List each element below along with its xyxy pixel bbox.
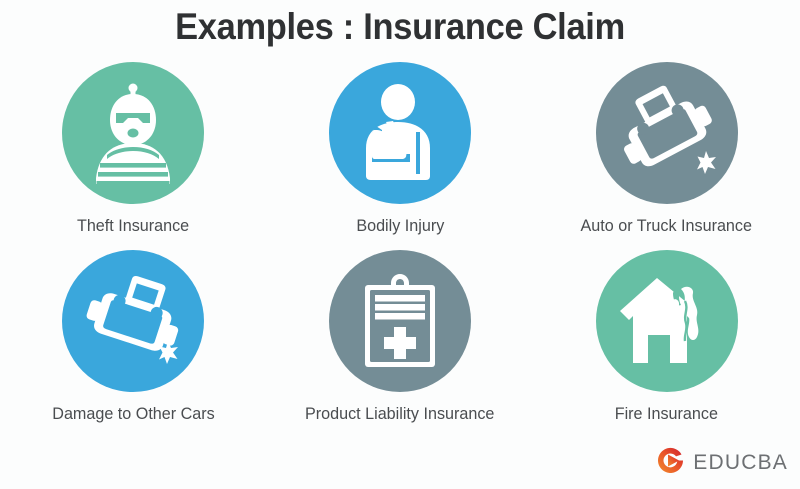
icon-circle-fire-insurance <box>596 250 738 392</box>
crashed-car-icon <box>615 85 719 181</box>
example-card-product-liability[interactable]: Product Liability Insurance <box>275 250 525 424</box>
crashed-car-icon <box>81 273 185 369</box>
example-card-damage-other-cars[interactable]: Damage to Other Cars <box>8 250 258 424</box>
icon-circle-auto-truck <box>596 62 738 204</box>
example-label: Bodily Injury <box>356 216 444 236</box>
icon-circle-bodily-injury <box>329 62 471 204</box>
example-card-theft-insurance[interactable]: Theft Insurance <box>8 62 258 236</box>
example-label: Auto or Truck Insurance <box>581 216 752 236</box>
example-card-fire-insurance[interactable]: Fire Insurance <box>542 250 792 424</box>
example-label: Damage to Other Cars <box>52 404 214 424</box>
burning-house-icon <box>615 275 719 367</box>
infographic-root: Examples : Insurance Claim <box>0 0 800 489</box>
educba-brand[interactable]: EDUCBA <box>655 445 788 481</box>
icon-circle-product-liability <box>329 250 471 392</box>
example-label: Product Liability Insurance <box>305 404 494 424</box>
example-label: Fire Insurance <box>615 404 718 424</box>
examples-grid: Theft Insurance <box>0 62 800 424</box>
educba-wordmark: EDUCBA <box>693 451 788 475</box>
educba-play-logo-icon <box>655 445 686 481</box>
burglar-icon <box>85 82 181 184</box>
page-title: Examples : Insurance Claim <box>28 6 772 48</box>
icon-circle-damage-other-cars <box>62 250 204 392</box>
example-label: Theft Insurance <box>77 216 189 236</box>
examples-row-2: Damage to Other Cars <box>0 250 800 424</box>
arm-sling-person-icon <box>352 84 448 182</box>
examples-row-1: Theft Insurance <box>0 62 800 236</box>
medical-clipboard-icon <box>357 272 443 370</box>
icon-circle-theft <box>62 62 204 204</box>
example-card-auto-truck-insurance[interactable]: Auto or Truck Insurance <box>542 62 792 236</box>
example-card-bodily-injury[interactable]: Bodily Injury <box>275 62 525 236</box>
